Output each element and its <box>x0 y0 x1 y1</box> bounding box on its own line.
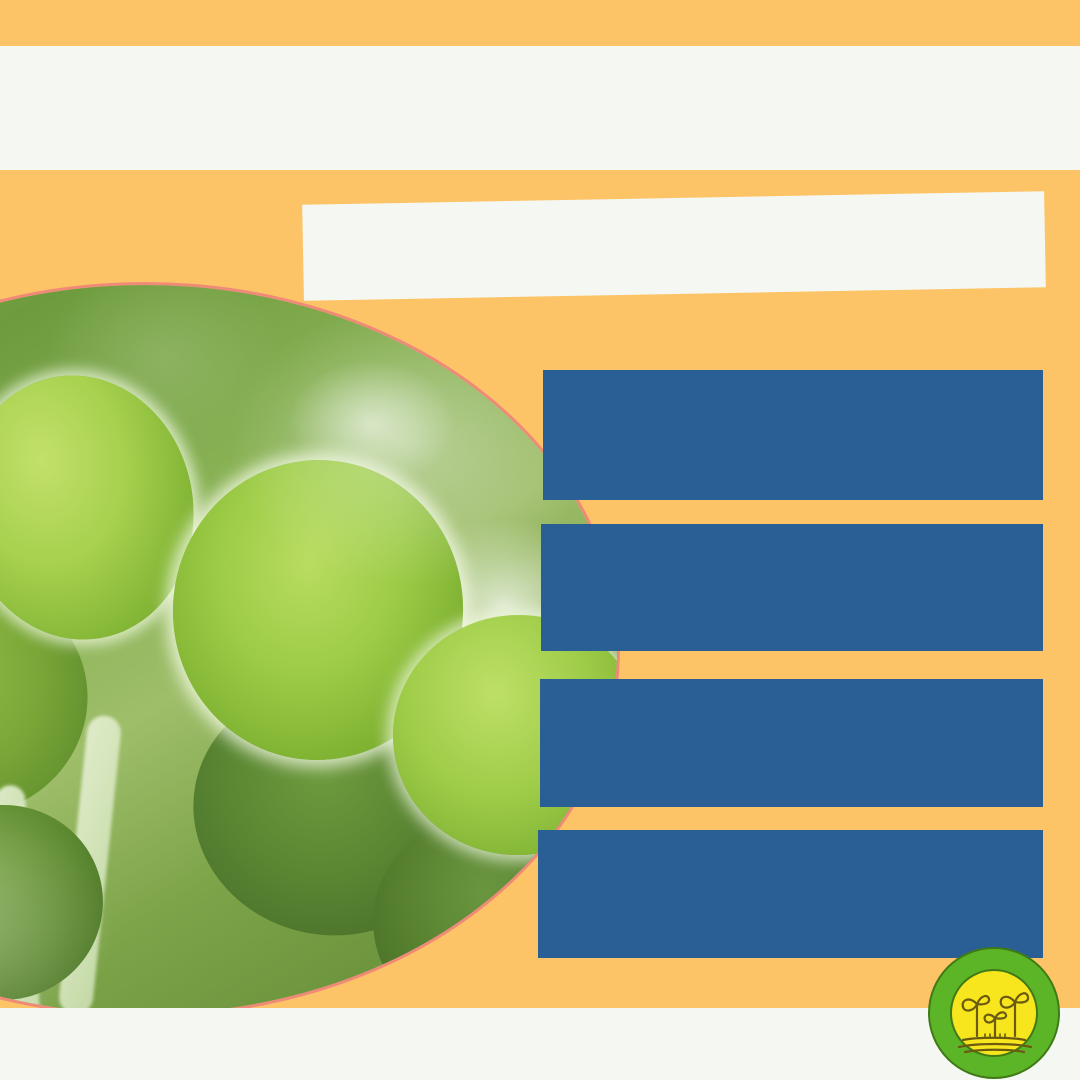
info-box-ages <box>538 830 1043 958</box>
subtitle-band <box>302 191 1046 301</box>
footer-band <box>0 1008 1080 1080</box>
title-band <box>0 46 1080 170</box>
info-box-hours <box>541 524 1043 651</box>
seedling-photo <box>0 282 620 1017</box>
wild-sprouts-logo[interactable] <box>925 944 1063 1080</box>
info-box-location <box>540 679 1043 807</box>
photo-highlight-overlay <box>0 285 617 1014</box>
camp-flyer-poster <box>0 0 1080 1080</box>
photo-background <box>0 285 617 1014</box>
info-box-dates <box>543 370 1043 500</box>
